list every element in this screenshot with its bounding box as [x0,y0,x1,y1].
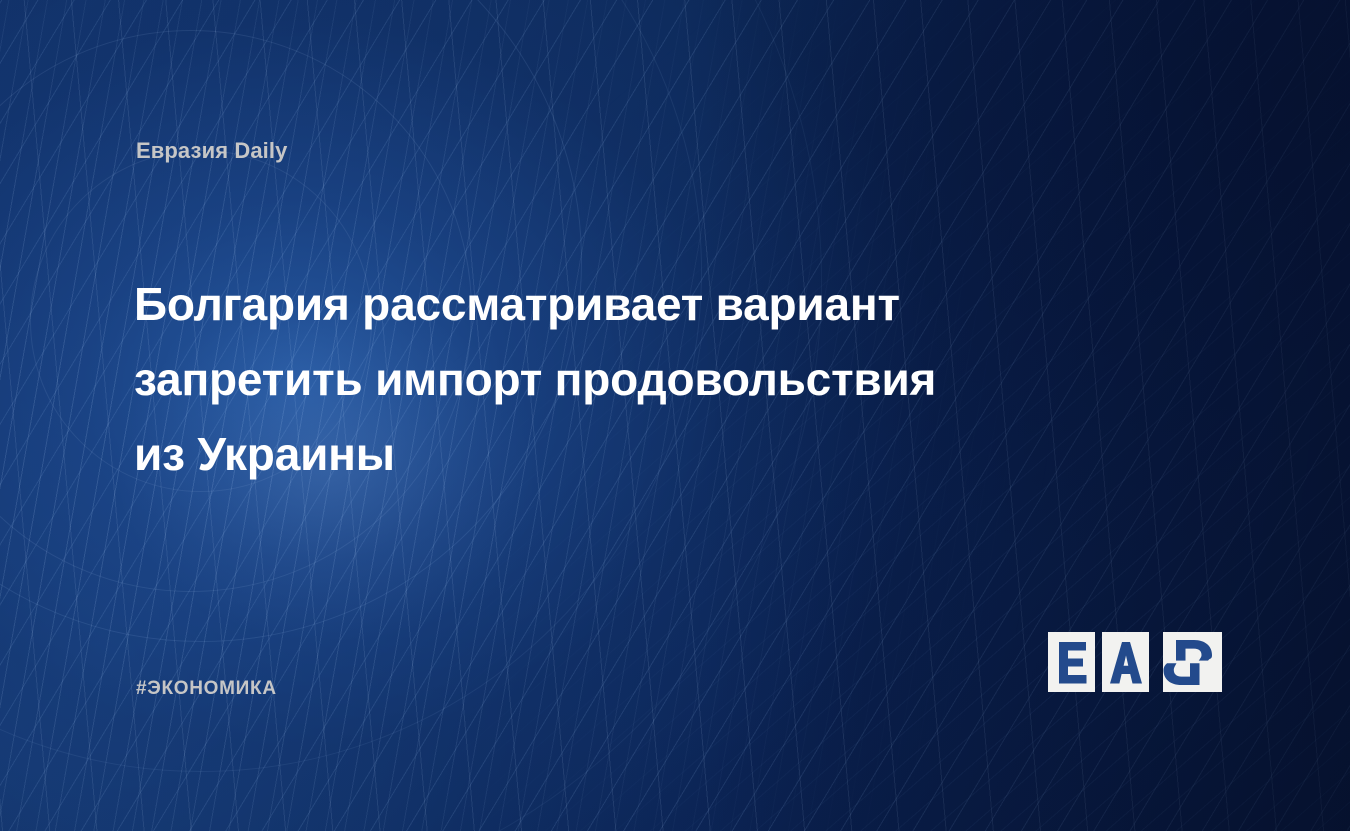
logo-tile-a-background [1102,632,1149,692]
site-name: Евразия Daily [136,138,287,164]
headline: Болгария рассматривает вариант запретить… [134,267,1094,492]
eadaily-logo[interactable] [1048,624,1228,702]
logo-letter-d-seam [1163,661,1222,664]
headline-line-2: запретить импорт продовольствия [134,342,1094,417]
card-content: Евразия Daily Болгария рассматривает вар… [0,0,1350,831]
headline-line-1: Болгария рассматривает вариант [134,267,1094,342]
eadaily-logo-svg [1048,624,1228,702]
category-tag[interactable]: #ЭКОНОМИКА [136,678,277,700]
headline-line-3: из Украины [134,417,1094,492]
news-card: Евразия Daily Болгария рассматривает вар… [0,0,1350,831]
logo-letter-e [1059,642,1087,684]
